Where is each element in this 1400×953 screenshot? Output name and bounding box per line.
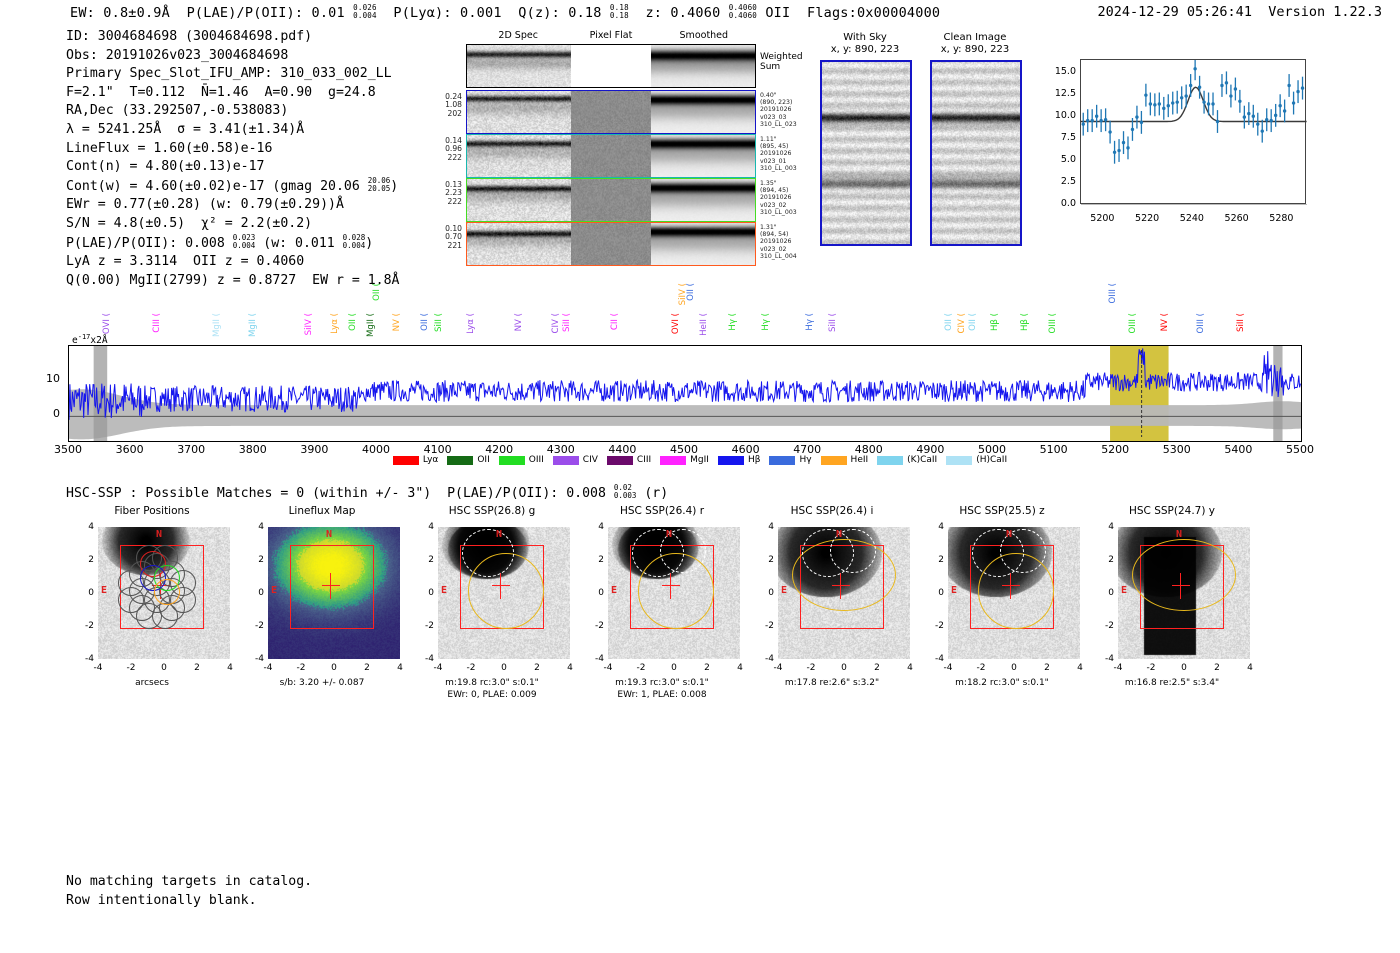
cutout-caption: m:19.3 rc:3.0" s:0.1"EWr: 1, PLAE: 0.008	[572, 677, 752, 701]
emission-line-label: Hβ (	[1020, 313, 1030, 331]
cutout-ytick: 2	[582, 555, 604, 565]
cutout-image: NE	[98, 527, 230, 659]
cutout-caption-line: s/b: 3.20 +/- 0.087	[232, 677, 412, 689]
cutout-caption-line: EWr: 0, PLAE: 0.009	[402, 689, 582, 701]
emission-line-label: SiII (	[562, 313, 572, 332]
legend-item: MgII	[660, 455, 709, 465]
cutout-panel: Lineflux MapNE-4-2024420-2-4s/b: 3.20 +/…	[232, 505, 412, 735]
highlighted-fiber-circle	[154, 579, 180, 605]
cutout-caption-line: arcsecs	[62, 677, 242, 689]
cutout-ytick: 0	[1092, 588, 1114, 598]
emission-line-label: HeII (	[699, 313, 709, 336]
cutout-title: Lineflux Map	[232, 505, 412, 517]
spec2d-row-left-stats: 0.132.23222	[424, 181, 462, 206]
cutout-ytick: -4	[412, 654, 434, 664]
legend-label: CIV	[583, 455, 598, 465]
spec2d-row-meta: 0.40" (890, 223) 20191026 v023_03 310_LL…	[760, 92, 797, 128]
legend-item: Hβ	[718, 455, 761, 465]
emission-line-label: MgII (	[212, 313, 222, 337]
spec2d-row	[466, 178, 756, 222]
spec2d-column-header: 2D Spec	[473, 30, 563, 41]
legend-label: (K)CaII	[907, 455, 937, 465]
emission-line-label: NV (	[1160, 313, 1170, 331]
cutout-ytick: 2	[752, 555, 774, 565]
info-line: Primary Spec_Slot_IFU_AMP: 310_033_002_L…	[66, 65, 399, 84]
cutout-caption: m:17.8 re:2.6" s:3.2"	[742, 677, 922, 689]
north-label: N	[326, 529, 332, 540]
center-marker-h	[322, 585, 340, 586]
cutout-caption: m:18.2 rc:3.0" s:0.1"	[912, 677, 1092, 689]
emission-line-label: OIII (	[1048, 313, 1058, 333]
cutout-image: NE	[438, 527, 570, 659]
cutout-ytick: -2	[242, 621, 264, 631]
legend-item: CIV	[553, 455, 598, 465]
spec2d-row	[466, 134, 756, 178]
east-label: E	[101, 585, 107, 596]
line-fit-xtick: 5240	[1172, 213, 1212, 224]
cutout-ytick: -2	[412, 621, 434, 631]
info-line: ID: 3004684698 (3004684698.pdf)	[66, 28, 399, 47]
cutout-xtick: 0	[832, 663, 856, 673]
emission-line-label: CIV (	[551, 313, 561, 334]
info-line-cont-w: Cont(w) = 4.60(±0.02)e-17 (gmag 20.06 20…	[66, 177, 399, 197]
cutout-caption: arcsecs	[62, 677, 242, 689]
cutout-xtick: 0	[1002, 663, 1026, 673]
emission-line-label: CII (	[610, 313, 620, 330]
cutout-image: NE	[778, 527, 910, 659]
legend-swatch	[447, 456, 473, 465]
hsc-ssp-header: HSC-SSP : Possible Matches = 0 (within +…	[66, 484, 668, 501]
cutout-ytick: -4	[922, 654, 944, 664]
line-fit-ytick: 5.0	[1042, 154, 1076, 165]
info-line: LyA z = 3.3114 OII z = 0.4060	[66, 253, 399, 272]
footer-note: No matching targets in catalog.Row inten…	[66, 872, 312, 910]
sky-image	[930, 60, 1022, 246]
source-info-block: ID: 3004684698 (3004684698.pdf)Obs: 2019…	[66, 28, 399, 290]
cutout-ytick: 4	[242, 522, 264, 532]
cutout-ytick: 0	[412, 588, 434, 598]
spectrum-ytick: 0	[26, 407, 60, 420]
cutout-caption: m:16.8 re:2.5" s:3.4"	[1082, 677, 1262, 689]
cutout-xtick: -4	[426, 663, 450, 673]
emission-line-label: OVI (	[102, 313, 112, 334]
cutout-xtick: -4	[766, 663, 790, 673]
cutout-xtick: -2	[969, 663, 993, 673]
legend-item: OII	[447, 455, 489, 465]
east-label: E	[271, 585, 277, 596]
legend-swatch	[821, 456, 847, 465]
spec2d-row	[466, 90, 756, 134]
sky-panel-name: Clean Image	[908, 32, 1042, 44]
legend-item: CIII	[607, 455, 651, 465]
spec2d-weighted-sum-row	[466, 44, 756, 88]
cutout-xtick: 0	[322, 663, 346, 673]
cutout-title: HSC SSP(24.7) y	[1082, 505, 1262, 517]
north-label: N	[1176, 529, 1182, 540]
sky-image	[820, 60, 912, 246]
emission-line-label: NV (	[514, 313, 524, 331]
header-summary: EW: 0.8±0.9Å P(LAE)/P(OII): 0.01 0.0260.…	[70, 4, 940, 21]
cutout-caption: s/b: 3.20 +/- 0.087	[232, 677, 412, 689]
info-line: LineFlux = 1.60(±0.58)e-16	[66, 140, 399, 159]
spec2d-row-left-stats: 0.100.70221	[424, 225, 462, 250]
cutout-xtick: 0	[1172, 663, 1196, 673]
line-fit-ytick: 15.0	[1042, 66, 1076, 77]
legend-label: (H)CaII	[976, 455, 1007, 465]
emission-line-label: Lyα (	[466, 313, 476, 334]
info-line: F=2.1" T=0.112 N̄=1.46 A=0.90 g=24.8	[66, 84, 399, 103]
cutout-ytick: -2	[752, 621, 774, 631]
cutout-panel: HSC SSP(26.8) gNE-4-2024420-2-4m:19.8 rc…	[402, 505, 582, 735]
cutout-xtick: -2	[799, 663, 823, 673]
line-fit-ytick: 12.5	[1042, 88, 1076, 99]
cutout-image: NE	[1118, 527, 1250, 659]
cutout-title: HSC SSP(25.5) z	[912, 505, 1092, 517]
spec2d-row-left-stats: 0.241.08202	[424, 93, 462, 118]
cutout-xtick: -2	[289, 663, 313, 673]
cutout-xtick: -4	[1106, 663, 1130, 673]
legend-label: Hγ	[799, 455, 811, 465]
line-fit-frame	[1080, 59, 1306, 204]
spectrum-unit-label: e-17x2Å	[72, 333, 108, 346]
info-line: S/N = 4.8(±0.5) χ² = 2.2(±0.2)	[66, 215, 399, 234]
emission-line-label: Hβ (	[990, 313, 1000, 331]
cutout-ytick: 4	[1092, 522, 1114, 532]
legend-swatch	[769, 456, 795, 465]
info-line: Cont(n) = 4.80(±0.13)e-17	[66, 158, 399, 177]
cutout-xtick: 0	[152, 663, 176, 673]
north-label: N	[496, 529, 502, 540]
cutout-ytick: 0	[582, 588, 604, 598]
cutout-title: HSC SSP(26.8) g	[402, 505, 582, 517]
cutout-xtick: 2	[1035, 663, 1059, 673]
cutout-xtick: 0	[662, 663, 686, 673]
cutout-ytick: 2	[242, 555, 264, 565]
cutout-xtick: -4	[86, 663, 110, 673]
cutout-panel: HSC SSP(25.5) zNE-4-2024420-2-4m:18.2 rc…	[912, 505, 1092, 735]
legend-item: OIII	[499, 455, 544, 465]
sky-panel-title: Clean Imagex, y: 890, 223	[908, 32, 1042, 56]
emission-line-label: MgII (	[248, 313, 258, 337]
full-spectrum-svg	[69, 346, 1301, 441]
emission-line-label: SiII (	[434, 313, 444, 332]
legend-swatch	[499, 456, 525, 465]
line-fit-xtick: 5220	[1127, 213, 1167, 224]
cutout-image: NE	[608, 527, 740, 659]
spec2d-column-header: Smoothed	[659, 30, 749, 41]
cutout-title: HSC SSP(26.4) r	[572, 505, 752, 517]
legend-item: Lyα	[393, 455, 438, 465]
footer-line: No matching targets in catalog.	[66, 872, 312, 891]
cutout-ytick: 0	[72, 588, 94, 598]
spec2d-row-meta: 1.11" (895, 45) 20191026 v023_01 310_LL_…	[760, 136, 797, 172]
legend-label: MgII	[690, 455, 709, 465]
catalog-match-ellipse	[462, 529, 514, 577]
cutout-xtick: 2	[865, 663, 889, 673]
emission-line-label: NV (	[392, 313, 402, 331]
cutout-title: Fiber Positions	[62, 505, 242, 517]
emission-line-label: OII (	[348, 313, 358, 331]
cutout-xtick: -2	[459, 663, 483, 673]
cutout-xtick: 2	[1205, 663, 1229, 673]
emission-line-label: MgII (	[366, 313, 376, 337]
cutout-ytick: 0	[922, 588, 944, 598]
cutout-ytick: -2	[1092, 621, 1114, 631]
legend-swatch	[607, 456, 633, 465]
cutout-panel: HSC SSP(24.7) yNE-4-2024420-2-4m:16.8 re…	[1082, 505, 1262, 735]
full-spectrum-chart	[68, 345, 1302, 442]
cutout-ytick: 2	[412, 555, 434, 565]
legend-label: OII	[477, 455, 489, 465]
emission-line-label: OIII (	[1196, 313, 1206, 333]
line-fit-xtick: 5280	[1261, 213, 1301, 224]
emission-line-label: OIII (	[1108, 283, 1118, 303]
cutout-caption: m:19.8 rc:3.0" s:0.1"EWr: 0, PLAE: 0.009	[402, 677, 582, 701]
east-label: E	[951, 585, 957, 596]
east-label: E	[611, 585, 617, 596]
aperture-ellipse	[1132, 539, 1236, 611]
emission-line-label: OII (	[968, 313, 978, 331]
legend-swatch	[946, 456, 972, 465]
emission-line-label: CIII (	[152, 313, 162, 333]
cutout-xtick: 2	[525, 663, 549, 673]
legend-label: HeII	[851, 455, 869, 465]
cutout-ytick: 2	[1092, 555, 1114, 565]
emission-line-legend: LyαOIIOIIICIVCIIIMgIIHβHγHeII(K)CaII(H)C…	[0, 455, 1400, 465]
emission-line-label: OII (	[420, 313, 430, 331]
cutout-ytick: 2	[922, 555, 944, 565]
cutout-xtick: -4	[256, 663, 280, 673]
cutout-xtick: 2	[185, 663, 209, 673]
cutout-ytick: -4	[1092, 654, 1114, 664]
fiber-circle	[118, 587, 144, 613]
east-label: E	[1121, 585, 1127, 596]
cutout-xtick: 4	[1238, 663, 1262, 673]
emission-line-label: SiII (	[1236, 313, 1246, 332]
emission-line-label: Lyα (	[330, 313, 340, 334]
spec2d-panel: 2D SpecPixel FlatSmoothedWeightedSum0.24…	[420, 30, 780, 250]
header-timestamp: 2024-12-29 05:26:41 Version 1.22.3	[1098, 4, 1382, 20]
weighted-sum-label: WeightedSum	[760, 52, 803, 72]
east-label: E	[441, 585, 447, 596]
north-label: N	[1006, 529, 1012, 540]
line-fit-chart: e-17x2Å 0.02.55.07.510.012.515.052005220…	[1040, 55, 1308, 230]
cutout-ytick: 4	[72, 522, 94, 532]
cutout-title: HSC SSP(26.4) i	[742, 505, 922, 517]
emission-line-label: OII (	[372, 283, 382, 301]
info-line: EWr = 0.77(±0.28) (w: 0.79(±0.29))Å	[66, 196, 399, 215]
east-label: E	[781, 585, 787, 596]
legend-swatch	[553, 456, 579, 465]
cutout-ytick: -2	[582, 621, 604, 631]
legend-item: HeII	[821, 455, 869, 465]
emission-line-label: Hγ (	[761, 313, 771, 331]
legend-label: OIII	[529, 455, 544, 465]
cutout-caption-line: m:19.3 rc:3.0" s:0.1"	[572, 677, 752, 689]
cutout-xtick: -4	[596, 663, 620, 673]
cutout-ytick: 4	[582, 522, 604, 532]
cutout-ytick: 0	[242, 588, 264, 598]
cutout-xtick: -4	[936, 663, 960, 673]
emission-line-label: CIV (	[957, 313, 967, 334]
cutout-ytick: -2	[922, 621, 944, 631]
cutout-caption-line: m:19.8 rc:3.0" s:0.1"	[402, 677, 582, 689]
cutout-xtick: -2	[629, 663, 653, 673]
line-fit-ytick: 10.0	[1042, 110, 1076, 121]
north-label: N	[156, 529, 162, 540]
cutout-ytick: 0	[752, 588, 774, 598]
north-label: N	[666, 529, 672, 540]
cutout-caption-line: m:18.2 rc:3.0" s:0.1"	[912, 677, 1092, 689]
emission-line-label: OIII (	[1128, 313, 1138, 333]
legend-item: Hγ	[769, 455, 811, 465]
emission-line-label: SiIV (	[304, 313, 314, 335]
info-line: RA,Dec (33.292507,-0.538083)	[66, 102, 399, 121]
line-fit-xtick: 5200	[1082, 213, 1122, 224]
cutout-ytick: -4	[72, 654, 94, 664]
line-fit-ytick: 2.5	[1042, 176, 1076, 187]
cutout-xtick: -2	[1139, 663, 1163, 673]
cutout-panel: HSC SSP(26.4) rNE-4-2024420-2-4m:19.3 rc…	[572, 505, 752, 735]
cutout-caption-line: EWr: 1, PLAE: 0.008	[572, 689, 752, 701]
cutout-caption-line: m:17.8 re:2.6" s:3.2"	[742, 677, 922, 689]
line-fit-xtick: 5260	[1217, 213, 1257, 224]
cutout-xtick: 2	[355, 663, 379, 673]
legend-swatch	[718, 456, 744, 465]
cutout-xtick: 2	[695, 663, 719, 673]
cutout-ytick: 4	[922, 522, 944, 532]
spec2d-column-header: Pixel Flat	[566, 30, 656, 41]
emission-line-label: OII (	[944, 313, 954, 331]
legend-label: CIII	[637, 455, 651, 465]
cutout-panel: Fiber PositionsNE-4-2024420-2-4arcsecs	[62, 505, 242, 735]
legend-item: (H)CaII	[946, 455, 1007, 465]
cutout-image: NE	[948, 527, 1080, 659]
cutout-ytick: 2	[72, 555, 94, 565]
cutout-xtick: -2	[119, 663, 143, 673]
info-line: Q(0.00) MgII(2799) z = 0.8727 EW r = 1.8…	[66, 272, 399, 291]
emission-line-label: SiII (	[828, 313, 838, 332]
legend-label: Lyα	[423, 455, 438, 465]
legend-swatch	[393, 456, 419, 465]
emission-line-label: Hγ (	[728, 313, 738, 331]
legend-label: Hβ	[748, 455, 761, 465]
info-line: Obs: 20191026v023_3004684698	[66, 47, 399, 66]
info-line-plae: P(LAE)/P(OII): 0.008 0.0230.004 (w: 0.01…	[66, 234, 399, 254]
emission-line-label: OII (	[686, 283, 696, 301]
emission-line-label: OVI (	[671, 313, 681, 334]
line-fit-ytick: 0.0	[1042, 198, 1076, 209]
line-fit-ytick: 7.5	[1042, 132, 1076, 143]
cutout-ytick: -2	[72, 621, 94, 631]
cutout-ytick: 4	[412, 522, 434, 532]
cutout-image: NE	[268, 527, 400, 659]
spec2d-row	[466, 222, 756, 266]
cutout-ytick: -4	[582, 654, 604, 664]
footer-line: Row intentionally blank.	[66, 891, 312, 910]
cutout-ytick: -4	[242, 654, 264, 664]
spectrum-ytick: 10	[26, 372, 60, 385]
cutout-ytick: -4	[752, 654, 774, 664]
legend-swatch	[877, 456, 903, 465]
cutout-ytick: 4	[752, 522, 774, 532]
info-line: λ = 5241.25Å σ = 3.41(±1.34)Å	[66, 121, 399, 140]
cutout-caption-line: m:16.8 re:2.5" s:3.4"	[1082, 677, 1262, 689]
north-label: N	[836, 529, 842, 540]
line-fit-svg	[1081, 60, 1307, 205]
legend-swatch	[660, 456, 686, 465]
sky-panel-coords: x, y: 890, 223	[908, 44, 1042, 56]
legend-item: (K)CaII	[877, 455, 937, 465]
cutout-panel: HSC SSP(26.4) iNE-4-2024420-2-4m:17.8 re…	[742, 505, 922, 735]
emission-line-label: Hγ (	[805, 313, 815, 331]
spec2d-row-meta: 1.35" (894, 45) 20191026 v023_02 310_LL_…	[760, 180, 797, 216]
cutout-xtick: 0	[492, 663, 516, 673]
ifu-footprint-box	[290, 545, 374, 629]
spec2d-row-left-stats: 0.140.96222	[424, 137, 462, 162]
spec2d-row-meta: 1.31" (894, 54) 20191026 v023_02 310_LL_…	[760, 224, 797, 260]
